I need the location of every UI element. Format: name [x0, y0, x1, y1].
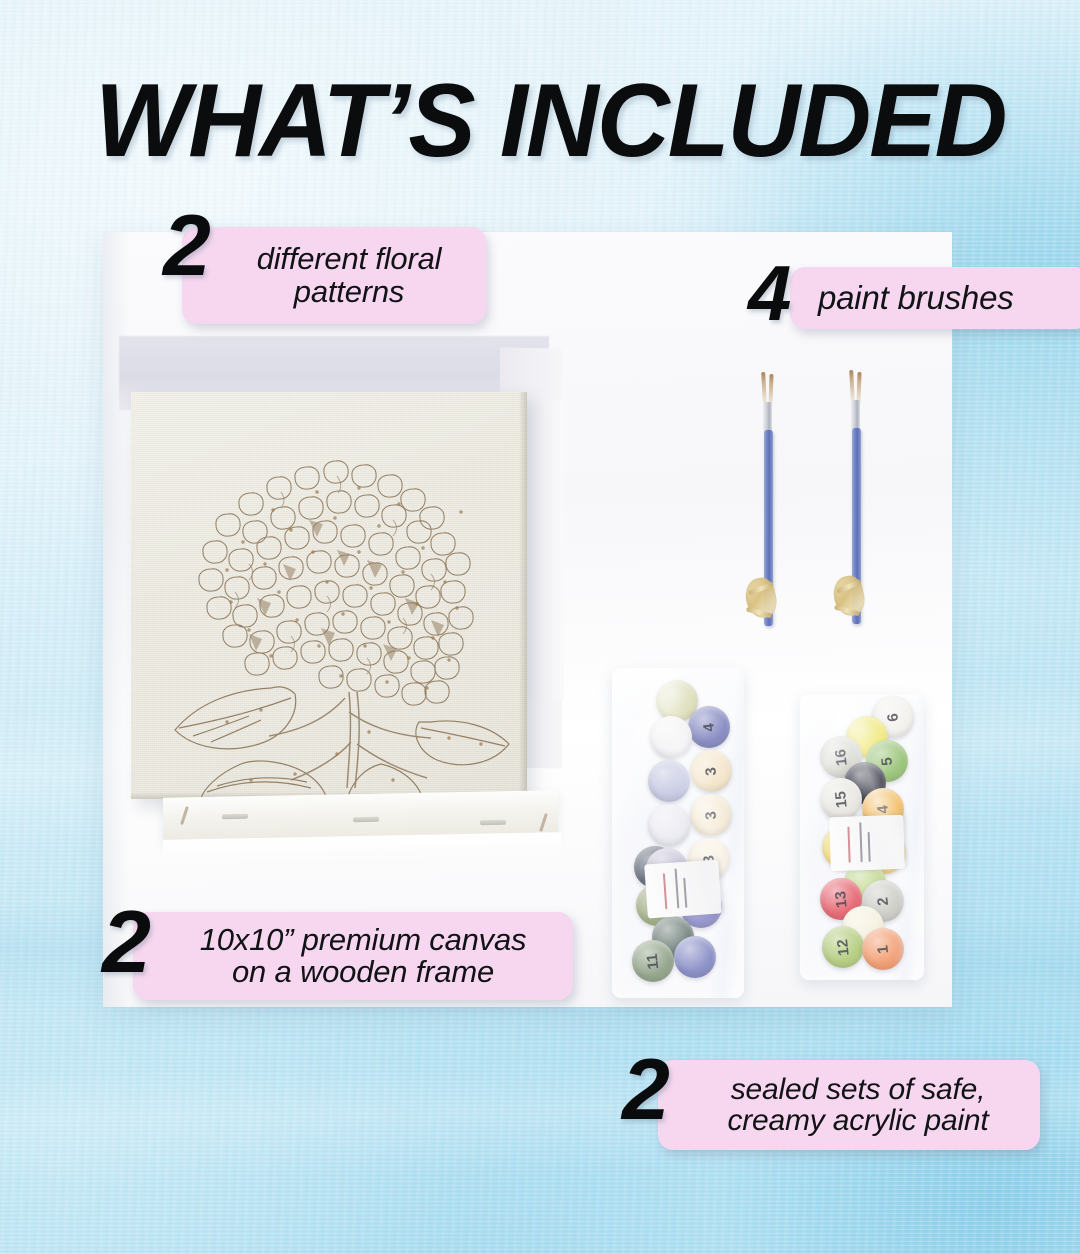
brush-bristle-tip: [849, 370, 855, 402]
callout-paint-brushes-text: paint brushes: [818, 281, 1014, 315]
callout-floral-patterns-text: different floral patterns: [218, 243, 480, 307]
callout-premium-canvas: 10x10” premium canvas on a wooden frame: [133, 912, 573, 1000]
callout-premium-canvas-count: 2: [102, 906, 147, 978]
paint-by-numbers-canvas: [131, 392, 527, 799]
callout-acrylic-paint-count: 2: [622, 1055, 666, 1126]
paint-pack-right: 6 16 5 15 4 14 3 13 2 12 1: [800, 694, 924, 980]
plastic-wrap-sheen: [612, 668, 744, 998]
page-title: WHAT’S INCLUDED: [95, 62, 1005, 181]
frame-staple: [480, 820, 506, 825]
plastic-wrap-sheen: [800, 694, 924, 980]
hydrangea-lineart-illustration: [131, 392, 527, 799]
brush-bristle-tip: [761, 372, 767, 404]
frame-staple: [353, 817, 379, 822]
paint-pack-left: 4 3 3 3 12 2 11: [612, 668, 744, 998]
callout-paint-brushes: paint brushes: [790, 267, 1080, 329]
paint-brush-bundle-left: [744, 372, 800, 634]
paint-brush-bundle-right: [832, 370, 888, 632]
product-infographic: 4 3 3 3 12 2 11 6 16 5 15 4 14 3 13 2: [0, 0, 1080, 1254]
callout-acrylic-paint-text: sealed sets of safe, creamy acrylic pain…: [678, 1074, 1038, 1136]
brush-ferrule: [851, 400, 860, 430]
callout-floral-patterns-count: 2: [163, 211, 207, 282]
canvas-right-edge-shadow: [519, 392, 527, 799]
callout-paint-brushes-count: 4: [748, 262, 787, 326]
frame-staple: [222, 814, 248, 819]
callout-premium-canvas-text: 10x10” premium canvas on a wooden frame: [157, 924, 569, 988]
callout-floral-patterns: different floral patterns: [182, 227, 486, 324]
callout-acrylic-paint: sealed sets of safe, creamy acrylic pain…: [658, 1060, 1040, 1150]
brush-ferrule: [763, 402, 772, 432]
